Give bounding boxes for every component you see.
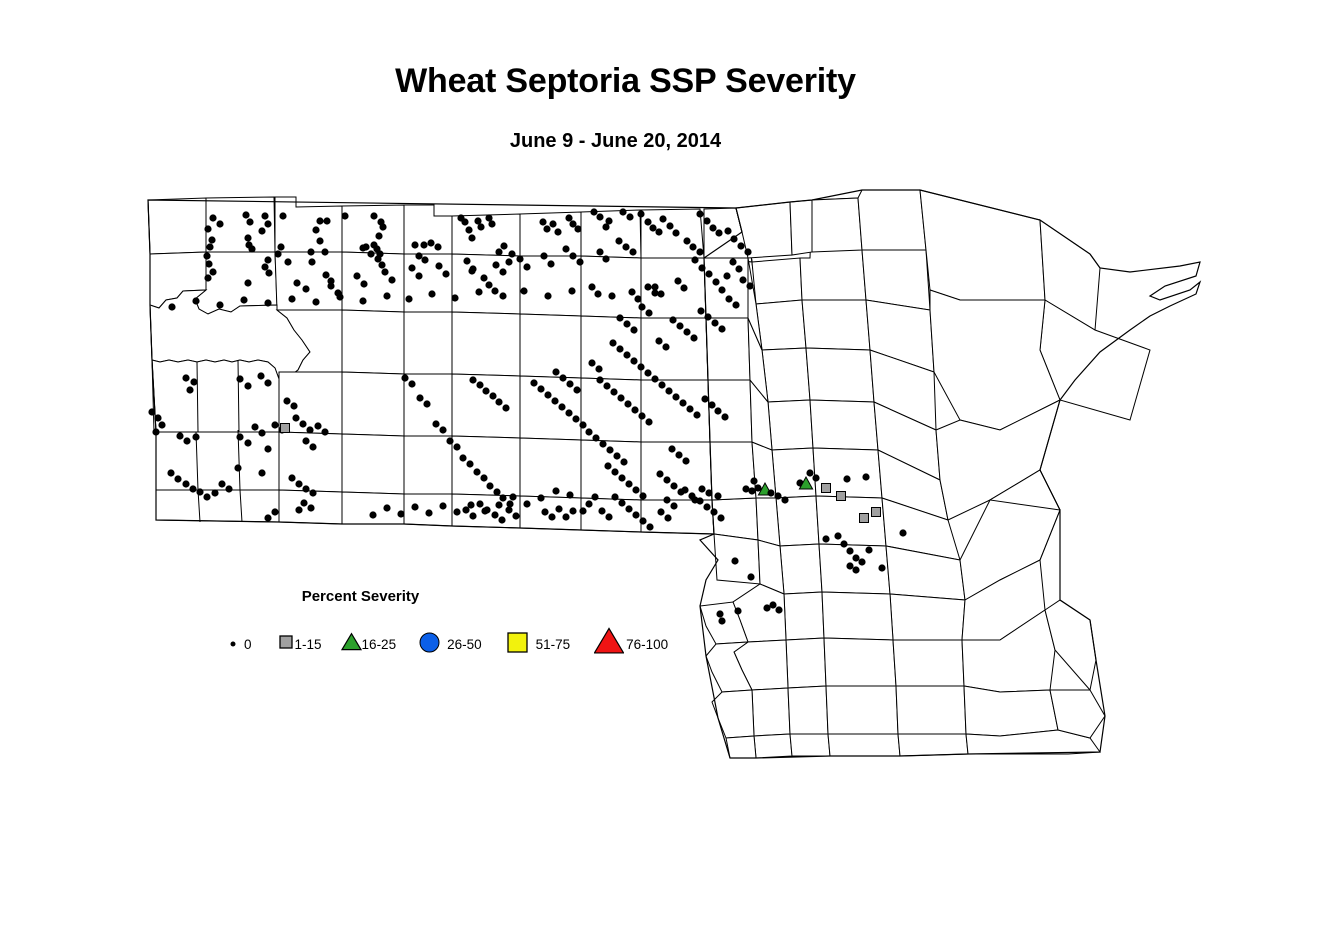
legend-item[interactable]: 1-15 (278, 634, 322, 655)
map-marker (428, 290, 435, 297)
map-marker (190, 378, 197, 385)
map-marker (730, 235, 737, 242)
map-marker (683, 237, 690, 244)
map-marker (516, 255, 523, 262)
map-marker (623, 320, 630, 327)
map-marker (834, 532, 841, 539)
map-marker (617, 394, 624, 401)
map-marker (434, 243, 441, 250)
map-marker (858, 558, 865, 565)
map-marker (539, 218, 546, 225)
map-marker (258, 429, 265, 436)
map-marker (512, 512, 519, 519)
minnesota-counties (700, 190, 1150, 758)
map-marker (659, 215, 666, 222)
map-marker (620, 458, 627, 465)
map-marker (624, 400, 631, 407)
legend-item[interactable]: 76-100 (594, 627, 668, 662)
map-marker (427, 239, 434, 246)
map-marker (321, 248, 328, 255)
map-marker (572, 415, 579, 422)
map-marker (520, 287, 527, 294)
map-marker (451, 294, 458, 301)
map-marker (655, 228, 662, 235)
map-marker (248, 245, 255, 252)
map-marker (670, 502, 677, 509)
map-marker (781, 496, 788, 503)
map-marker (321, 428, 328, 435)
map-marker (551, 397, 558, 404)
map-marker (299, 420, 306, 427)
map-marker (466, 460, 473, 467)
map-marker (271, 508, 278, 515)
legend-item-label: 16-25 (362, 637, 397, 652)
map-marker (463, 257, 470, 264)
map-marker (264, 514, 271, 521)
map-marker (251, 423, 258, 430)
map-marker (242, 211, 249, 218)
map-marker (307, 248, 314, 255)
map-marker (714, 407, 721, 414)
map-marker (498, 516, 505, 523)
map-marker (495, 398, 502, 405)
map-marker (628, 288, 635, 295)
map-marker (735, 265, 742, 272)
map-marker (486, 482, 493, 489)
states-map (0, 0, 1341, 926)
map-marker (307, 504, 314, 511)
map-marker (264, 299, 271, 306)
map-marker (657, 290, 664, 297)
legend-item-label: 26-50 (447, 637, 482, 652)
map-marker (852, 566, 859, 573)
map-marker (613, 452, 620, 459)
map-marker (705, 489, 712, 496)
map-marker (174, 475, 181, 482)
map-marker (623, 351, 630, 358)
map-marker (714, 492, 721, 499)
map-marker (615, 237, 622, 244)
map-marker (672, 229, 679, 236)
map-marker (209, 214, 216, 221)
map-marker (491, 287, 498, 294)
map-marker (244, 279, 251, 286)
map-marker (609, 339, 616, 346)
map-marker (562, 245, 569, 252)
map-marker (544, 391, 551, 398)
map-marker (236, 375, 243, 382)
map-marker (703, 503, 710, 510)
map-marker (611, 493, 618, 500)
map-marker (378, 261, 385, 268)
map-marker (205, 260, 212, 267)
map-marker (204, 225, 211, 232)
map-marker (411, 241, 418, 248)
map-marker (596, 248, 603, 255)
map-marker (374, 255, 381, 262)
map-marker (258, 469, 265, 476)
map-marker (585, 500, 592, 507)
map-marker (669, 316, 676, 323)
map-marker (812, 474, 819, 481)
map-marker (302, 437, 309, 444)
map-marker (573, 386, 580, 393)
map-marker (670, 482, 677, 489)
map-marker (608, 292, 615, 299)
map-marker (502, 404, 509, 411)
map-marker (822, 535, 829, 542)
map-marker (341, 212, 348, 219)
map-marker (508, 250, 515, 257)
map-marker (369, 511, 376, 518)
map-marker (655, 337, 662, 344)
map-marker (710, 508, 717, 515)
map-marker (565, 214, 572, 221)
map-marker (290, 402, 297, 409)
map-marker (693, 411, 700, 418)
map-marker (739, 276, 746, 283)
map-marker (482, 387, 489, 394)
map-marker (302, 285, 309, 292)
map-marker (312, 226, 319, 233)
map-marker (469, 512, 476, 519)
map-marker (632, 486, 639, 493)
map-marker (148, 408, 155, 415)
map-marker (288, 474, 295, 481)
map-marker (204, 274, 211, 281)
map-marker (476, 381, 483, 388)
legend-item[interactable]: 16-25 (341, 632, 397, 658)
map-marker (598, 507, 605, 514)
map-marker (203, 493, 210, 500)
map-marker (302, 485, 309, 492)
map-marker (543, 225, 550, 232)
map-marker (360, 280, 367, 287)
map-marker (308, 258, 315, 265)
map-marker (258, 227, 265, 234)
map-marker (236, 433, 243, 440)
map-marker (634, 295, 641, 302)
map-marker (383, 292, 390, 299)
map-marker (703, 217, 710, 224)
map-marker (411, 503, 418, 510)
map-marker (189, 485, 196, 492)
map-marker (666, 222, 673, 229)
legend-swatch-triangle-icon (341, 632, 362, 658)
map-marker (465, 226, 472, 233)
map-marker (469, 376, 476, 383)
map-marker (639, 517, 646, 524)
map-marker (493, 488, 500, 495)
map-marker (453, 508, 460, 515)
map-marker (314, 422, 321, 429)
map-marker (683, 328, 690, 335)
map-marker (415, 272, 422, 279)
map-marker (592, 434, 599, 441)
map-marker (846, 562, 853, 569)
map-marker (421, 256, 428, 263)
map-marker (698, 264, 705, 271)
map-marker (203, 252, 210, 259)
map-marker (625, 505, 632, 512)
map-marker (603, 382, 610, 389)
map-marker (616, 345, 623, 352)
map-marker (495, 248, 502, 255)
map-marker (327, 282, 334, 289)
map-marker (381, 268, 388, 275)
map-marker (723, 272, 730, 279)
map-marker (379, 223, 386, 230)
map-marker (602, 223, 609, 230)
map-marker (469, 265, 476, 272)
map-marker (271, 421, 278, 428)
map-marker (663, 496, 670, 503)
map-marker (397, 510, 404, 517)
map-marker (569, 507, 576, 514)
map-marker (588, 359, 595, 366)
map-marker (658, 381, 665, 388)
map-marker (488, 220, 495, 227)
map-marker (435, 262, 442, 269)
map-marker (158, 421, 165, 428)
map-marker (596, 376, 603, 383)
legend-item[interactable]: 0 (228, 636, 252, 654)
map-marker (312, 298, 319, 305)
map-marker (822, 484, 831, 493)
map-marker (306, 426, 313, 433)
map-marker (370, 212, 377, 219)
map-marker (186, 386, 193, 393)
map-marker (475, 288, 482, 295)
map-marker (481, 507, 488, 514)
map-marker (353, 272, 360, 279)
map-marker (680, 284, 687, 291)
map-marker (416, 394, 423, 401)
map-marker (649, 224, 656, 231)
legend-item-label: 0 (244, 637, 252, 652)
map-marker (293, 279, 300, 286)
map-marker (605, 513, 612, 520)
map-marker (489, 392, 496, 399)
legend-swatch-circle-icon (418, 631, 441, 659)
map-container (0, 0, 1341, 926)
map-marker (216, 301, 223, 308)
map-marker (182, 480, 189, 487)
legend-title: Percent Severity (228, 588, 493, 605)
legend-swatch-dot-icon (228, 636, 238, 654)
map-marker (261, 212, 268, 219)
map-marker (477, 223, 484, 230)
map-marker (675, 451, 682, 458)
map-marker (806, 469, 813, 476)
map-marker (651, 289, 658, 296)
map-marker (549, 220, 556, 227)
map-marker (629, 248, 636, 255)
map-marker (689, 243, 696, 250)
map-marker (547, 260, 554, 267)
map-marker (630, 357, 637, 364)
map-marker (218, 480, 225, 487)
map-marker (721, 413, 728, 420)
map-marker (862, 473, 869, 480)
map-marker (264, 379, 271, 386)
map-page: Wheat Septoria SSP Severity June 9 - Jun… (0, 0, 1341, 926)
map-marker (244, 234, 251, 241)
map-marker (645, 418, 652, 425)
map-marker (665, 387, 672, 394)
map-marker (209, 268, 216, 275)
map-marker (668, 445, 675, 452)
legend-swatch-square-icon (506, 631, 529, 659)
map-marker (696, 248, 703, 255)
map-marker (718, 617, 725, 624)
map-marker (616, 314, 623, 321)
map-marker (277, 243, 284, 250)
map-marker (843, 475, 850, 482)
map-marker (632, 511, 639, 518)
map-marker (565, 409, 572, 416)
map-marker (383, 504, 390, 511)
map-marker (505, 258, 512, 265)
map-marker (569, 252, 576, 259)
map-marker (408, 380, 415, 387)
map-marker (585, 428, 592, 435)
map-marker (284, 258, 291, 265)
map-marker (750, 477, 757, 484)
map-marker (264, 445, 271, 452)
map-marker (574, 225, 581, 232)
map-marker (774, 492, 781, 499)
map-marker (288, 295, 295, 302)
map-marker (899, 529, 906, 536)
map-marker (651, 375, 658, 382)
map-marker (679, 399, 686, 406)
map-marker (461, 218, 468, 225)
map-marker (295, 480, 302, 487)
map-marker (506, 500, 513, 507)
map-marker (657, 508, 664, 515)
map-marker (323, 217, 330, 224)
map-marker (442, 270, 449, 277)
map-marker (644, 218, 651, 225)
map-marker (837, 492, 846, 501)
map-marker (674, 277, 681, 284)
map-marker (618, 474, 625, 481)
map-marker (555, 505, 562, 512)
map-marker (682, 457, 689, 464)
map-marker (698, 485, 705, 492)
map-marker (701, 395, 708, 402)
map-marker (244, 439, 251, 446)
map-marker (234, 464, 241, 471)
map-marker (499, 292, 506, 299)
map-marker (712, 278, 719, 285)
map-marker (167, 469, 174, 476)
map-marker (388, 276, 395, 283)
map-marker (316, 217, 323, 224)
map-marker (681, 486, 688, 493)
map-marker (309, 443, 316, 450)
map-marker (261, 263, 268, 270)
map-marker (473, 468, 480, 475)
legend-swatch-square-icon (278, 634, 294, 655)
map-marker (568, 287, 575, 294)
map-marker (499, 494, 506, 501)
map-marker (476, 500, 483, 507)
map-marker (415, 252, 422, 259)
map-marker (537, 385, 544, 392)
map-marker (495, 501, 502, 508)
map-marker (420, 241, 427, 248)
map-marker (316, 237, 323, 244)
north-dakota-counties (148, 197, 797, 536)
map-marker (196, 488, 203, 495)
map-marker (662, 343, 669, 350)
map-marker (558, 403, 565, 410)
map-marker (530, 379, 537, 386)
map-marker (244, 382, 251, 389)
map-marker (622, 243, 629, 250)
map-marker (168, 303, 175, 310)
map-marker (554, 228, 561, 235)
map-marker (747, 573, 754, 580)
map-marker (246, 218, 253, 225)
map-marker (425, 509, 432, 516)
map-marker (491, 511, 498, 518)
legend-item-label: 1-15 (295, 637, 322, 652)
map-marker (541, 508, 548, 515)
map-marker (840, 540, 847, 547)
map-marker (336, 293, 343, 300)
map-marker (732, 301, 739, 308)
map-marker (625, 480, 632, 487)
map-marker (183, 437, 190, 444)
map-marker (638, 412, 645, 419)
legend-items: 01-1516-2526-5051-7576-100 (228, 627, 628, 662)
map-marker (579, 507, 586, 514)
map-marker (432, 420, 439, 427)
map-marker (523, 263, 530, 270)
map-marker (604, 462, 611, 469)
map-marker (610, 388, 617, 395)
map-marker (734, 607, 741, 614)
map-marker (152, 428, 159, 435)
map-marker (709, 224, 716, 231)
map-marker (872, 508, 881, 517)
map-marker (588, 283, 595, 290)
map-marker (852, 554, 859, 561)
map-marker (631, 406, 638, 413)
map-marker (599, 440, 606, 447)
map-marker (281, 424, 290, 433)
map-marker (686, 405, 693, 412)
legend-item[interactable]: 26-50 (418, 631, 482, 659)
map-marker (537, 494, 544, 501)
map-marker (744, 248, 751, 255)
map-marker (566, 380, 573, 387)
legend-item[interactable]: 51-75 (506, 631, 571, 659)
map-marker (375, 232, 382, 239)
map-marker (775, 606, 782, 613)
map-marker (708, 401, 715, 408)
map-marker (367, 250, 374, 257)
map-marker (716, 610, 723, 617)
map-marker (594, 290, 601, 297)
map-marker (718, 325, 725, 332)
map-marker (208, 236, 215, 243)
map-marker (619, 208, 626, 215)
map-marker (865, 546, 872, 553)
